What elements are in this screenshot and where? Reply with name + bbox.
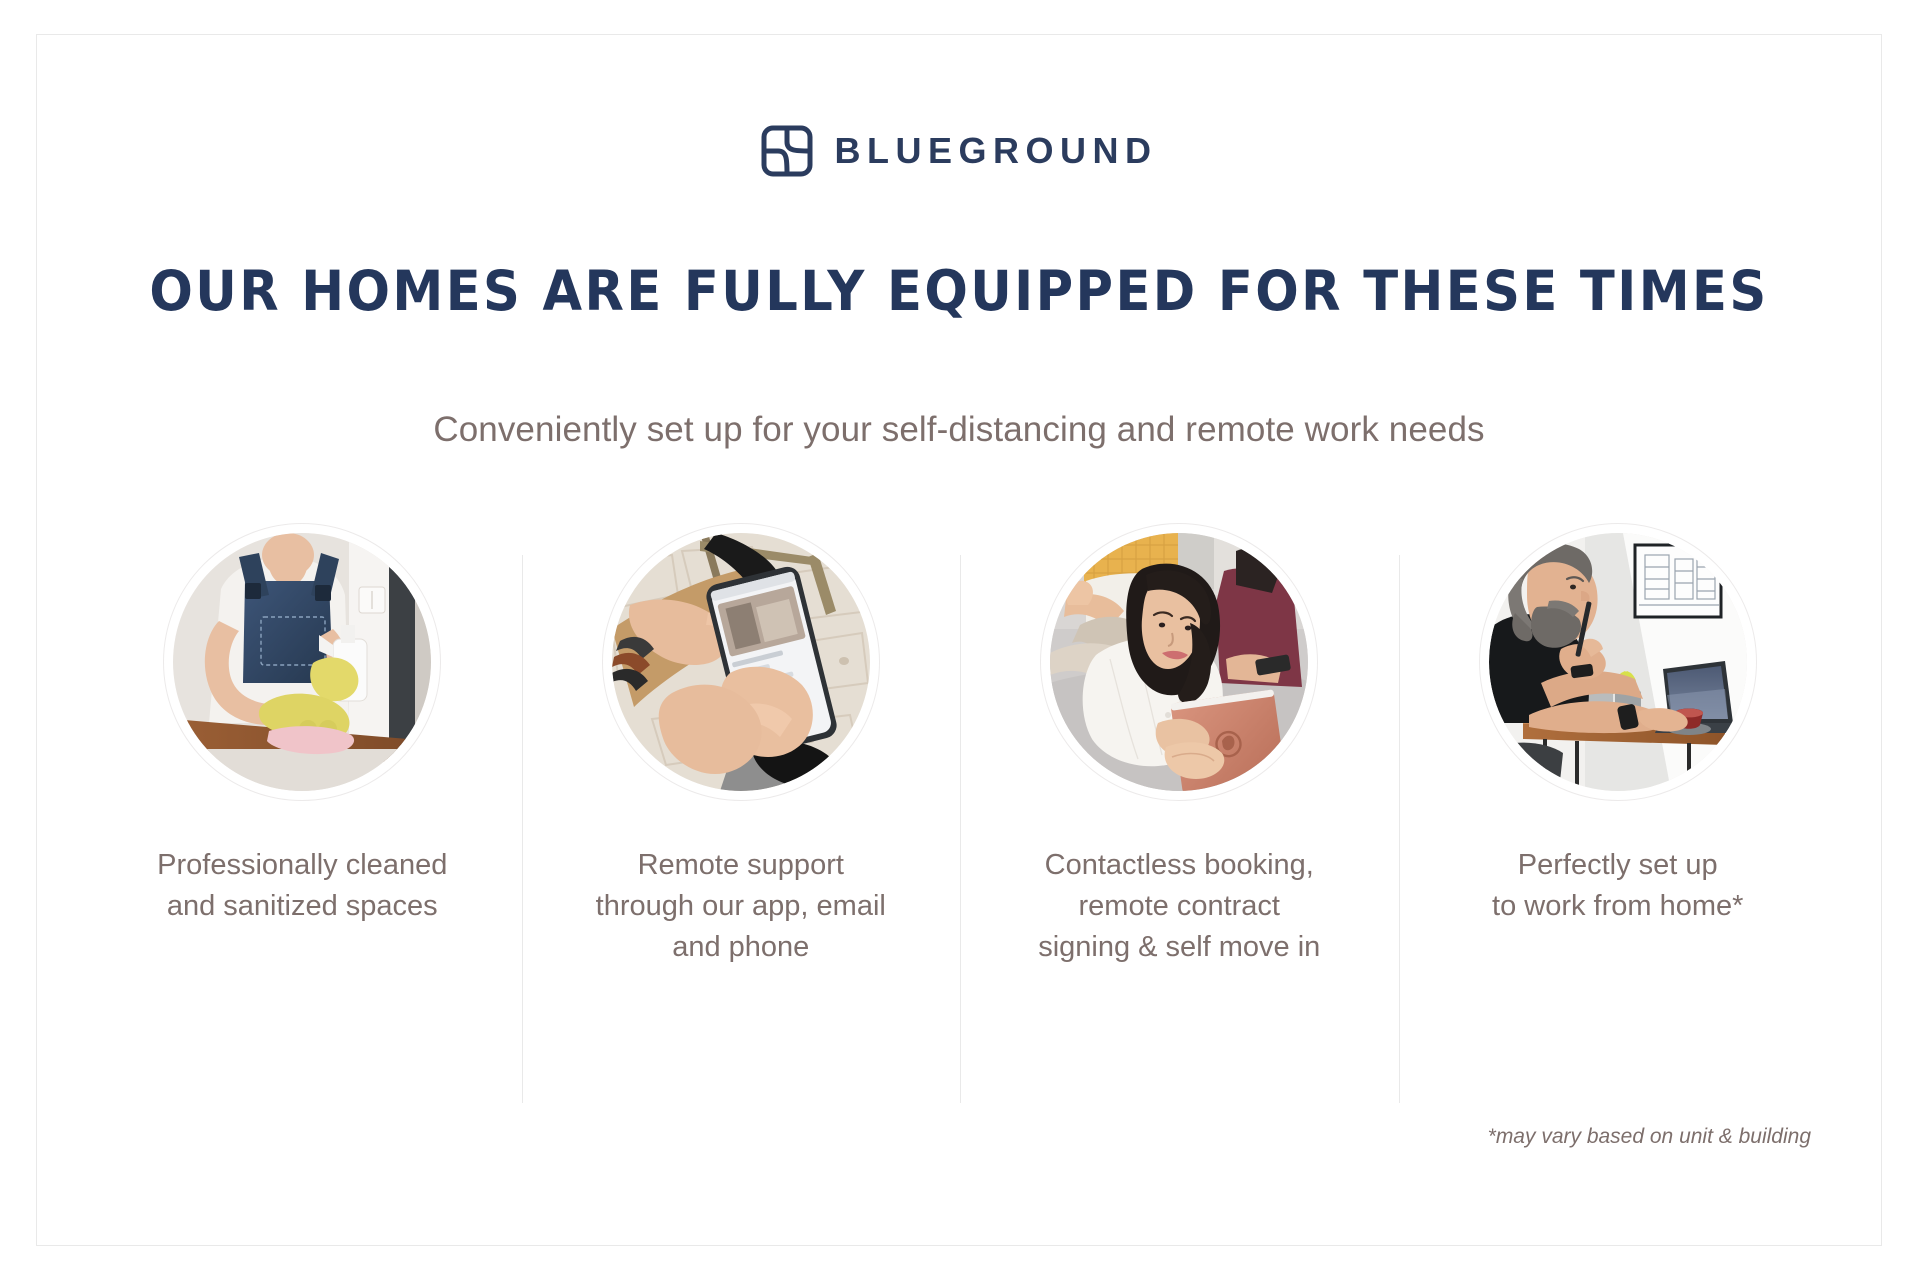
mobile-app-photo (612, 533, 870, 791)
feature-image-wrapper (1479, 523, 1757, 801)
blueground-square-mark-icon (761, 125, 813, 177)
brand-wordmark: BLUEGROUND (835, 133, 1158, 169)
feature-caption: Remote support through our app, email an… (578, 845, 904, 969)
feature-caption: Contactless booking, remote contract sig… (1020, 845, 1338, 969)
tablet-booking-photo (1050, 533, 1308, 791)
feature-item-contactless-booking: Contactless booking, remote contract sig… (960, 517, 1399, 1077)
page-title: OUR HOMES ARE FULLY EQUIPPED FOR THESE T… (102, 262, 1817, 320)
feature-list: Professionally cleaned and sanitized spa… (83, 517, 1837, 1077)
feature-caption: Perfectly set up to work from home* (1474, 845, 1761, 927)
feature-item-cleaning: Professionally cleaned and sanitized spa… (83, 517, 522, 1077)
page-subtitle: Conveniently set up for your self-distan… (37, 410, 1881, 450)
feature-image-wrapper (1040, 523, 1318, 801)
feature-item-work-from-home: Perfectly set up to work from home* (1399, 517, 1838, 1077)
feature-caption: Professionally cleaned and sanitized spa… (139, 845, 465, 927)
cleaning-photo (173, 533, 431, 791)
feature-image-wrapper (602, 523, 880, 801)
work-from-home-photo (1489, 533, 1747, 791)
poster-frame: BLUEGROUND OUR HOMES ARE FULLY EQUIPPED … (36, 34, 1882, 1246)
feature-image-wrapper (163, 523, 441, 801)
brand-lockup: BLUEGROUND (37, 125, 1881, 177)
feature-item-remote-support: Remote support through our app, email an… (522, 517, 961, 1077)
footnote: *may vary based on unit & building (1488, 1125, 1811, 1149)
